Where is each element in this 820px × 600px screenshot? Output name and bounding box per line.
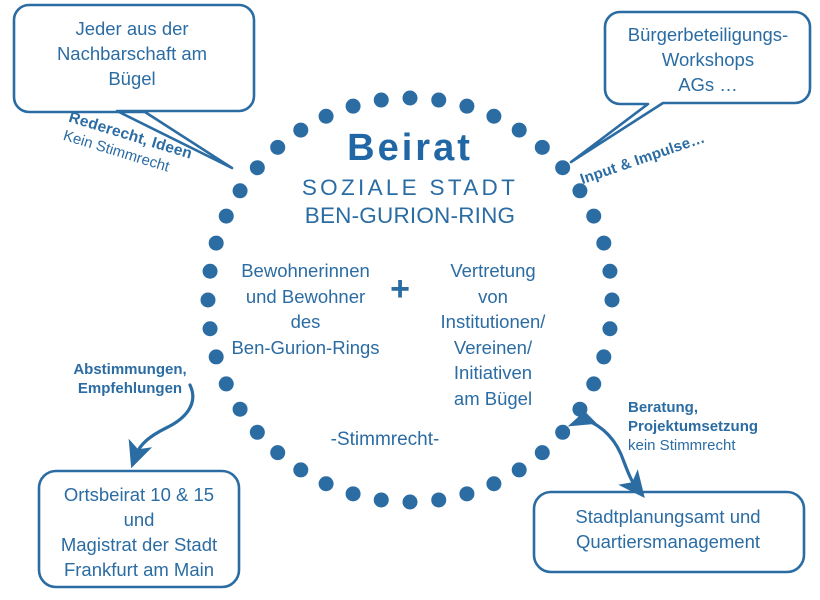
ring-column-residents: Bewohnerinnen und Bewohner des Ben-Gurio… — [218, 258, 393, 360]
ring-dot — [403, 91, 418, 106]
ring-dot — [596, 236, 611, 251]
page-title: Beirat — [255, 126, 565, 170]
diagram-canvas: Jeder aus der Nachbarschaft am Bügel Bür… — [0, 0, 820, 600]
ring-dot — [535, 445, 550, 460]
caption-abstimmungen: Abstimmungen, Empfehlungen — [40, 360, 220, 398]
ring-dot — [233, 402, 248, 417]
caption-beratung-line1: Beratung, — [628, 398, 818, 417]
plus-icon: + — [382, 272, 418, 306]
bubble-top-right-text: Bürgerbeteiligungs- Workshops AGs … — [605, 22, 811, 97]
page-subtitle-1: SOZIALE STADT — [255, 175, 565, 201]
ring-dot — [602, 321, 617, 336]
ring-dot — [270, 445, 285, 460]
ring-dot — [605, 293, 620, 308]
ring-dot — [374, 492, 389, 507]
ring-dot — [209, 236, 224, 251]
ring-dot — [586, 209, 601, 224]
ring-dot — [459, 99, 474, 114]
ring-dot — [586, 376, 601, 391]
ring-dot — [572, 402, 587, 417]
box-bottom-right-text: Stadtplanungsamt und Quartiersmanagement — [535, 504, 801, 554]
ring-dot — [203, 264, 218, 279]
ring-dot — [346, 486, 361, 501]
ring-dot — [431, 492, 446, 507]
box-bottom-left-text: Ortsbeirat 10 & 15 und Magistrat der Sta… — [40, 482, 238, 582]
ring-dot — [201, 293, 216, 308]
ring-dot — [374, 93, 389, 108]
ring-dot — [431, 93, 446, 108]
ring-column-institutions: Vertretung von Institutionen/ Vereinen/ … — [418, 258, 568, 411]
ring-dot — [602, 264, 617, 279]
ring-dot — [319, 109, 334, 124]
ring-dot — [555, 425, 570, 440]
caption-beratung-line2: Projektumsetzung — [628, 417, 818, 436]
ring-dot — [219, 376, 234, 391]
ring-dot — [250, 425, 265, 440]
ring-dot — [346, 99, 361, 114]
ring-dot — [596, 349, 611, 364]
ring-dot — [233, 183, 248, 198]
ring-dot — [293, 462, 308, 477]
ring-dot — [219, 209, 234, 224]
ring-dot — [319, 476, 334, 491]
ring-dot — [486, 476, 501, 491]
ring-dot — [459, 486, 474, 501]
page-subtitle-2: BEN-GURION-RING — [250, 203, 570, 229]
ring-dot — [512, 462, 527, 477]
ring-dot — [486, 109, 501, 124]
caption-beratung: Beratung, Projektumsetzung kein Stimmrec… — [628, 398, 818, 455]
bubble-top-left-text: Jeder aus der Nachbarschaft am Bügel — [27, 16, 237, 91]
caption-beratung-line3: kein Stimmrecht — [628, 436, 818, 455]
ring-dot — [403, 495, 418, 510]
ring-dot — [203, 321, 218, 336]
ring-footer-stimmrecht: -Stimmrecht- — [300, 428, 470, 452]
